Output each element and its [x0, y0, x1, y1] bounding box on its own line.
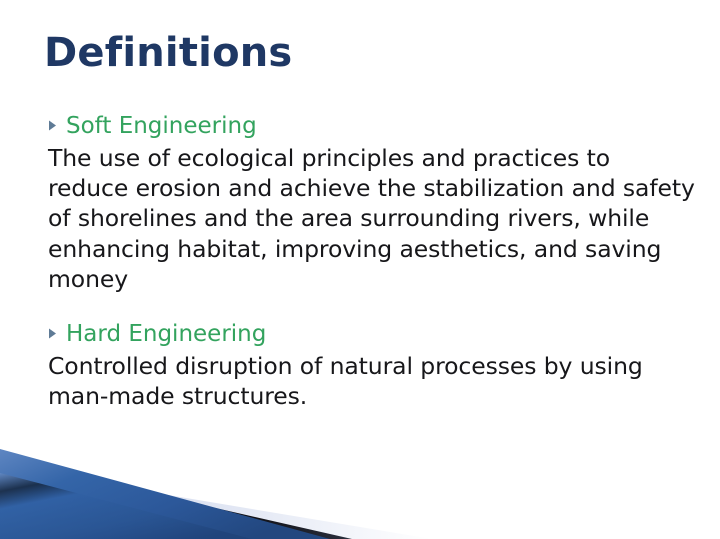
slide: Definitions Soft Engineering The use of …: [0, 0, 720, 539]
triangle-right-bullet-icon: [48, 320, 66, 339]
pale-accent-wedge: [0, 467, 432, 539]
blue-wedge: [0, 449, 330, 539]
bullet-line: Soft Engineering: [48, 112, 696, 141]
page-title: Definitions: [44, 30, 292, 76]
black-accent-band: [0, 459, 352, 539]
triangle-right-bullet-icon: [48, 112, 66, 131]
section-soft-engineering: Soft Engineering The use of ecological p…: [48, 112, 696, 294]
section-hard-engineering: Hard Engineering Controlled disruption o…: [48, 320, 696, 411]
section-heading: Soft Engineering: [66, 112, 257, 141]
blue-diagonal-banner-decoration: [0, 419, 720, 539]
section-body-text: Controlled disruption of natural process…: [48, 351, 696, 412]
section-body-text: The use of ecological principles and pra…: [48, 143, 696, 295]
slide-body: Soft Engineering The use of ecological p…: [48, 112, 696, 412]
section-heading: Hard Engineering: [66, 320, 266, 349]
blue-wedge-shading: [0, 473, 252, 539]
bullet-line: Hard Engineering: [48, 320, 696, 349]
